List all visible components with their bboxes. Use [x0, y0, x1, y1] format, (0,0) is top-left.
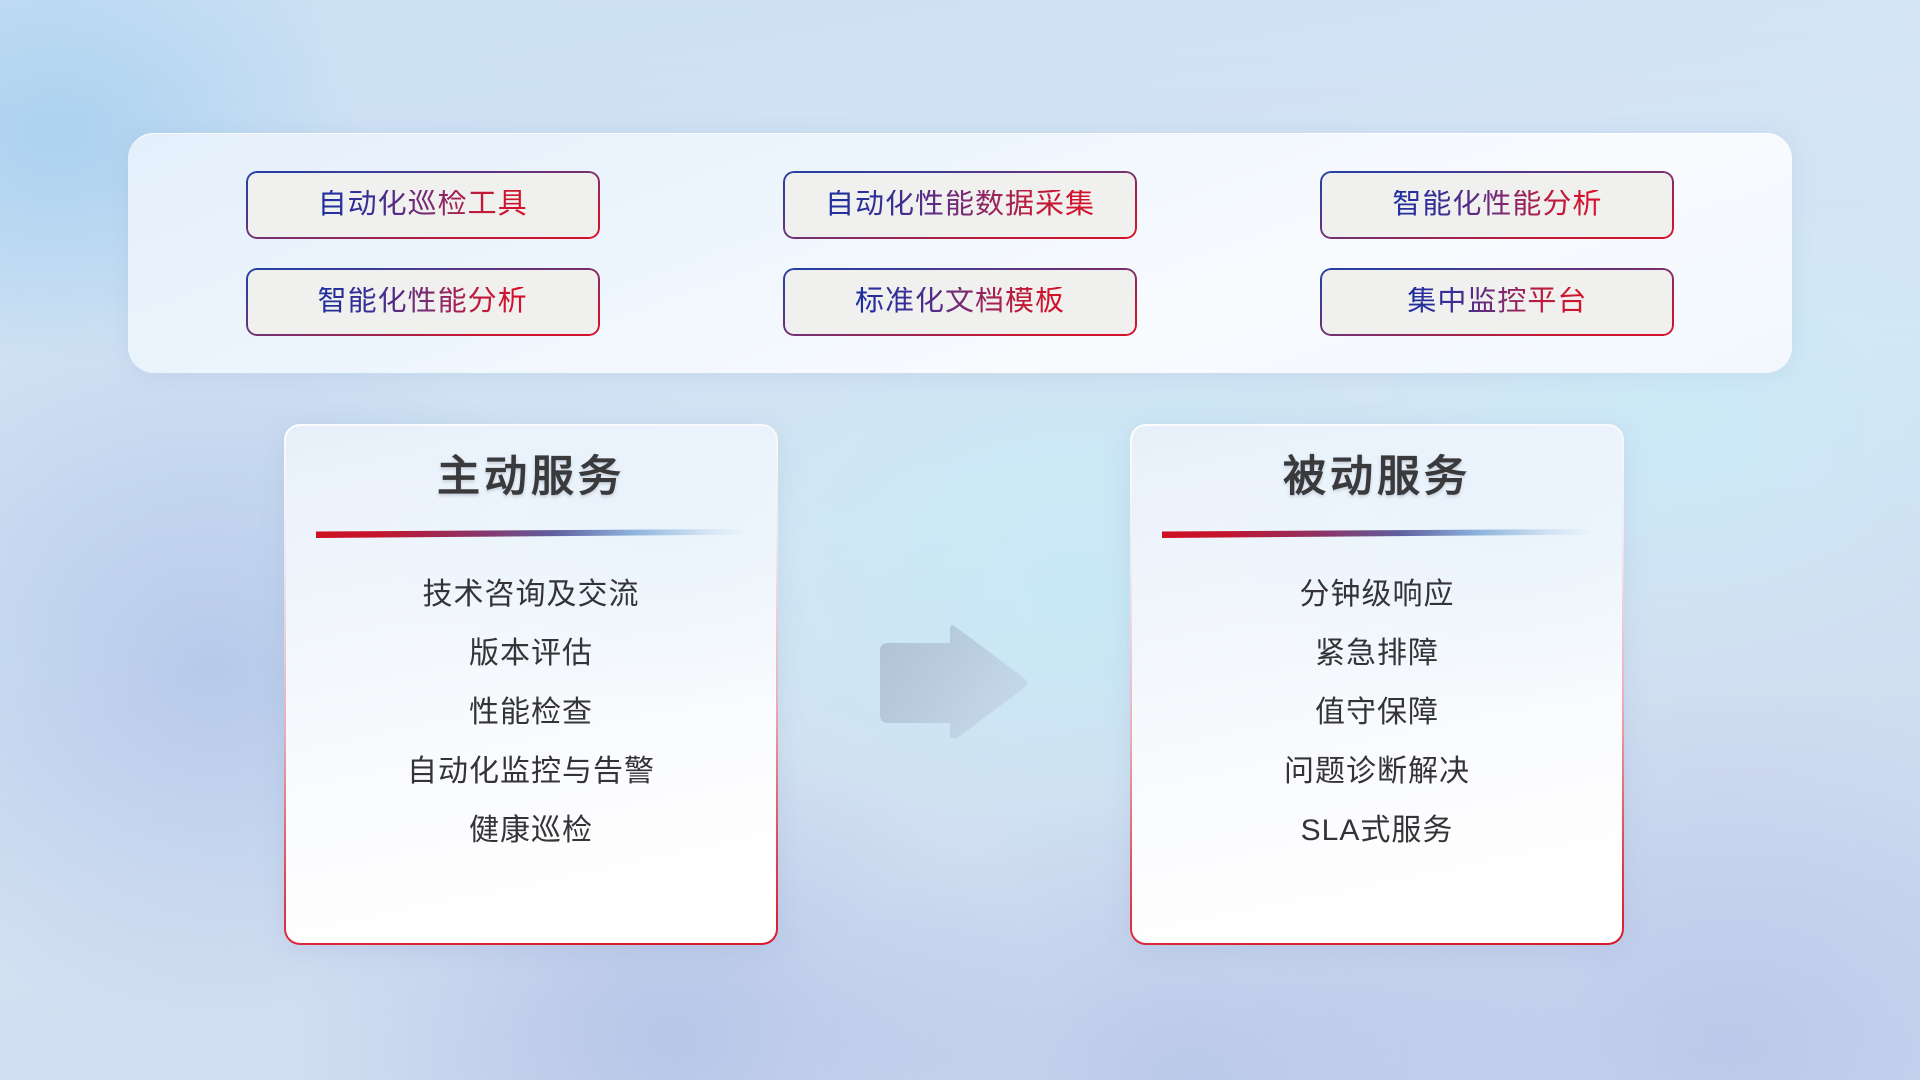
tag-label: 标准化文档模板 [855, 287, 1065, 316]
list-item[interactable]: 分钟级响应 [1300, 580, 1455, 610]
service-item-list: 分钟级响应 紧急排障 值守保障 问题诊断解决 SLA式服务 [1132, 580, 1622, 846]
list-item[interactable]: 值守保障 [1315, 698, 1439, 728]
list-item[interactable]: 健康巡检 [469, 816, 593, 846]
service-card-body: 主动服务 技术咨询及交流 版本评估 性能检查 自动化监控与告警 健康巡检 [286, 426, 776, 943]
service-item-list: 技术咨询及交流 版本评估 性能检查 自动化监控与告警 健康巡检 [286, 580, 776, 846]
list-item[interactable]: 紧急排障 [1315, 639, 1439, 669]
list-item[interactable]: SLA式服务 [1301, 816, 1454, 846]
tag-item[interactable]: 智能化性能分析 [246, 268, 600, 336]
list-item[interactable]: 版本评估 [469, 639, 593, 669]
service-card-active[interactable]: 主动服务 技术咨询及交流 版本评估 性能检查 自动化监控与告警 健康巡检 [284, 424, 778, 945]
card-title: 被动服务 [1283, 456, 1471, 499]
list-item[interactable]: 性能检查 [469, 698, 593, 728]
service-card-passive[interactable]: 被动服务 分钟级响应 紧急排障 值守保障 问题诊断解决 SLA式服务 [1130, 424, 1624, 945]
service-card-body: 被动服务 分钟级响应 紧急排障 值守保障 问题诊断解决 SLA式服务 [1132, 426, 1622, 943]
card-title: 主动服务 [437, 456, 625, 499]
tag-label: 自动化性能数据采集 [825, 190, 1095, 219]
list-item[interactable]: 自动化监控与告警 [407, 757, 655, 787]
slide-stage: 自动化巡检工具 自动化性能数据采集 智能化性能分析 智能化性能分析 标准化文档模… [0, 0, 1920, 1080]
tag-label: 智能化性能分析 [1392, 190, 1602, 219]
tag-item[interactable]: 标准化文档模板 [783, 268, 1137, 336]
list-item[interactable]: 问题诊断解决 [1284, 757, 1470, 787]
card-title-divider [1162, 529, 1592, 538]
tag-item[interactable]: 自动化巡检工具 [246, 171, 600, 239]
tag-label: 自动化巡检工具 [318, 190, 528, 219]
card-title-divider [316, 529, 746, 538]
tag-item[interactable]: 集中监控平台 [1320, 268, 1674, 336]
tag-label: 智能化性能分析 [318, 287, 528, 316]
tag-label: 集中监控平台 [1407, 287, 1587, 316]
capability-tag-panel: 自动化巡检工具 自动化性能数据采集 智能化性能分析 智能化性能分析 标准化文档模… [128, 133, 1792, 373]
tag-item[interactable]: 智能化性能分析 [1320, 171, 1674, 239]
list-item[interactable]: 技术咨询及交流 [423, 580, 640, 610]
tag-item[interactable]: 自动化性能数据采集 [783, 171, 1137, 239]
arrow-right-icon [872, 624, 1032, 738]
